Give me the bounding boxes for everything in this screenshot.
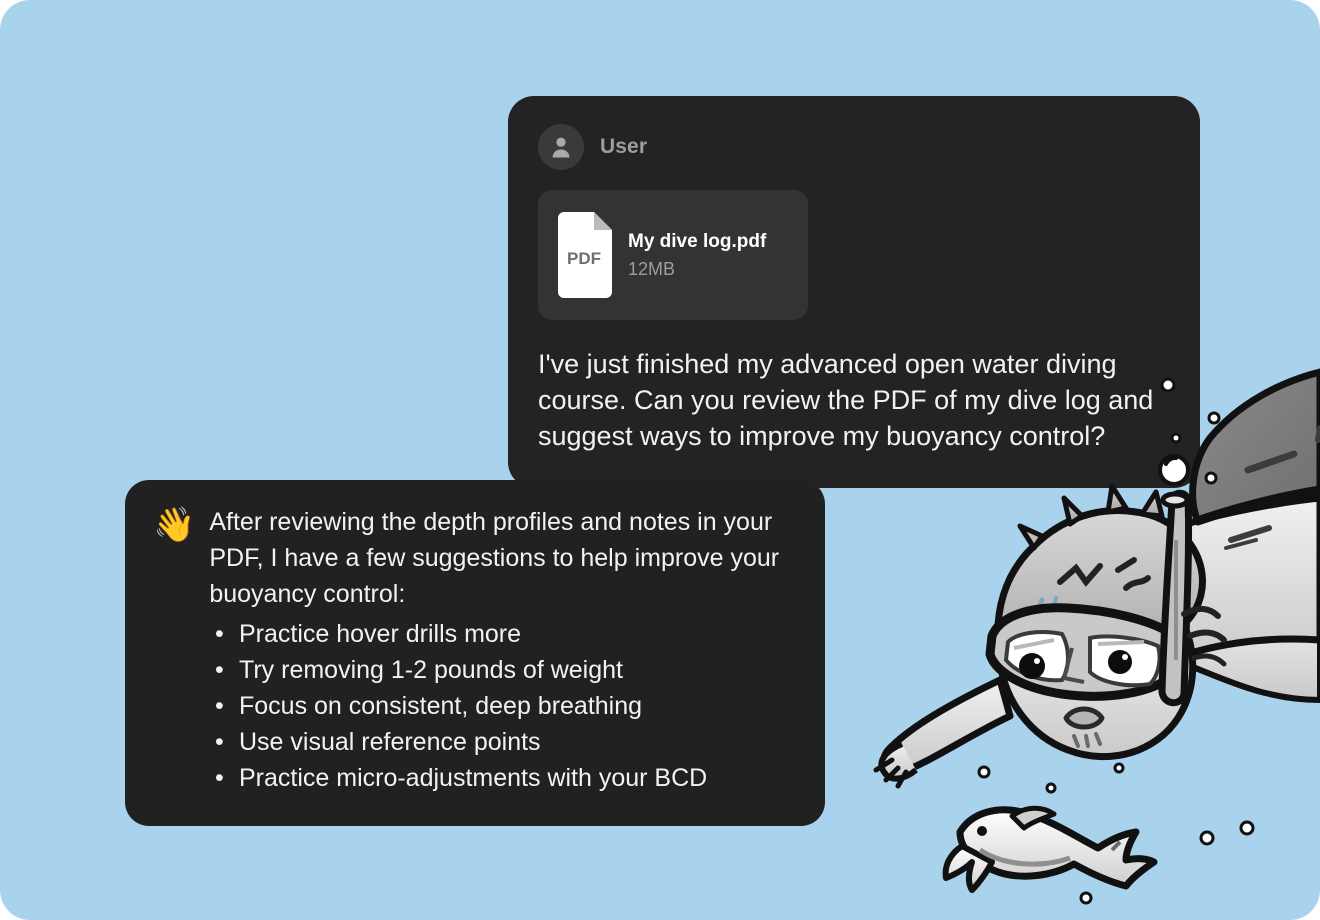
user-message-text: I've just finished my advanced open wate…: [508, 320, 1200, 488]
user-message-bubble: User PDF My dive log.pdf 12MB I've just …: [508, 96, 1200, 488]
assistant-suggestion-list: Practice hover drills more Try removing …: [153, 616, 797, 796]
list-item: Practice micro-adjustments with your BCD: [215, 760, 797, 796]
user-header: User: [508, 96, 1200, 170]
list-item: Focus on consistent, deep breathing: [215, 688, 797, 724]
pdf-file-icon: PDF: [558, 212, 612, 298]
assistant-intro-row: 👋 After reviewing the depth profiles and…: [153, 504, 797, 612]
svg-text:PDF: PDF: [567, 249, 601, 268]
fish-illustration: [946, 808, 1154, 890]
person-avatar-icon: [538, 124, 584, 170]
scene-container: User PDF My dive log.pdf 12MB I've just …: [0, 0, 1320, 920]
attachment-file-name: My dive log.pdf: [628, 231, 766, 253]
assistant-message-bubble: 👋 After reviewing the depth profiles and…: [125, 480, 825, 826]
waving-hand-icon: 👋: [153, 506, 195, 544]
user-role-label: User: [600, 135, 647, 159]
attachment-file-size: 12MB: [628, 259, 766, 280]
list-item: Practice hover drills more: [215, 616, 797, 652]
assistant-intro-text: After reviewing the depth profiles and n…: [209, 504, 797, 612]
list-item: Try removing 1-2 pounds of weight: [215, 652, 797, 688]
list-item: Use visual reference points: [215, 724, 797, 760]
attachment-meta: My dive log.pdf 12MB: [628, 231, 766, 280]
pdf-attachment-card[interactable]: PDF My dive log.pdf 12MB: [538, 190, 808, 320]
